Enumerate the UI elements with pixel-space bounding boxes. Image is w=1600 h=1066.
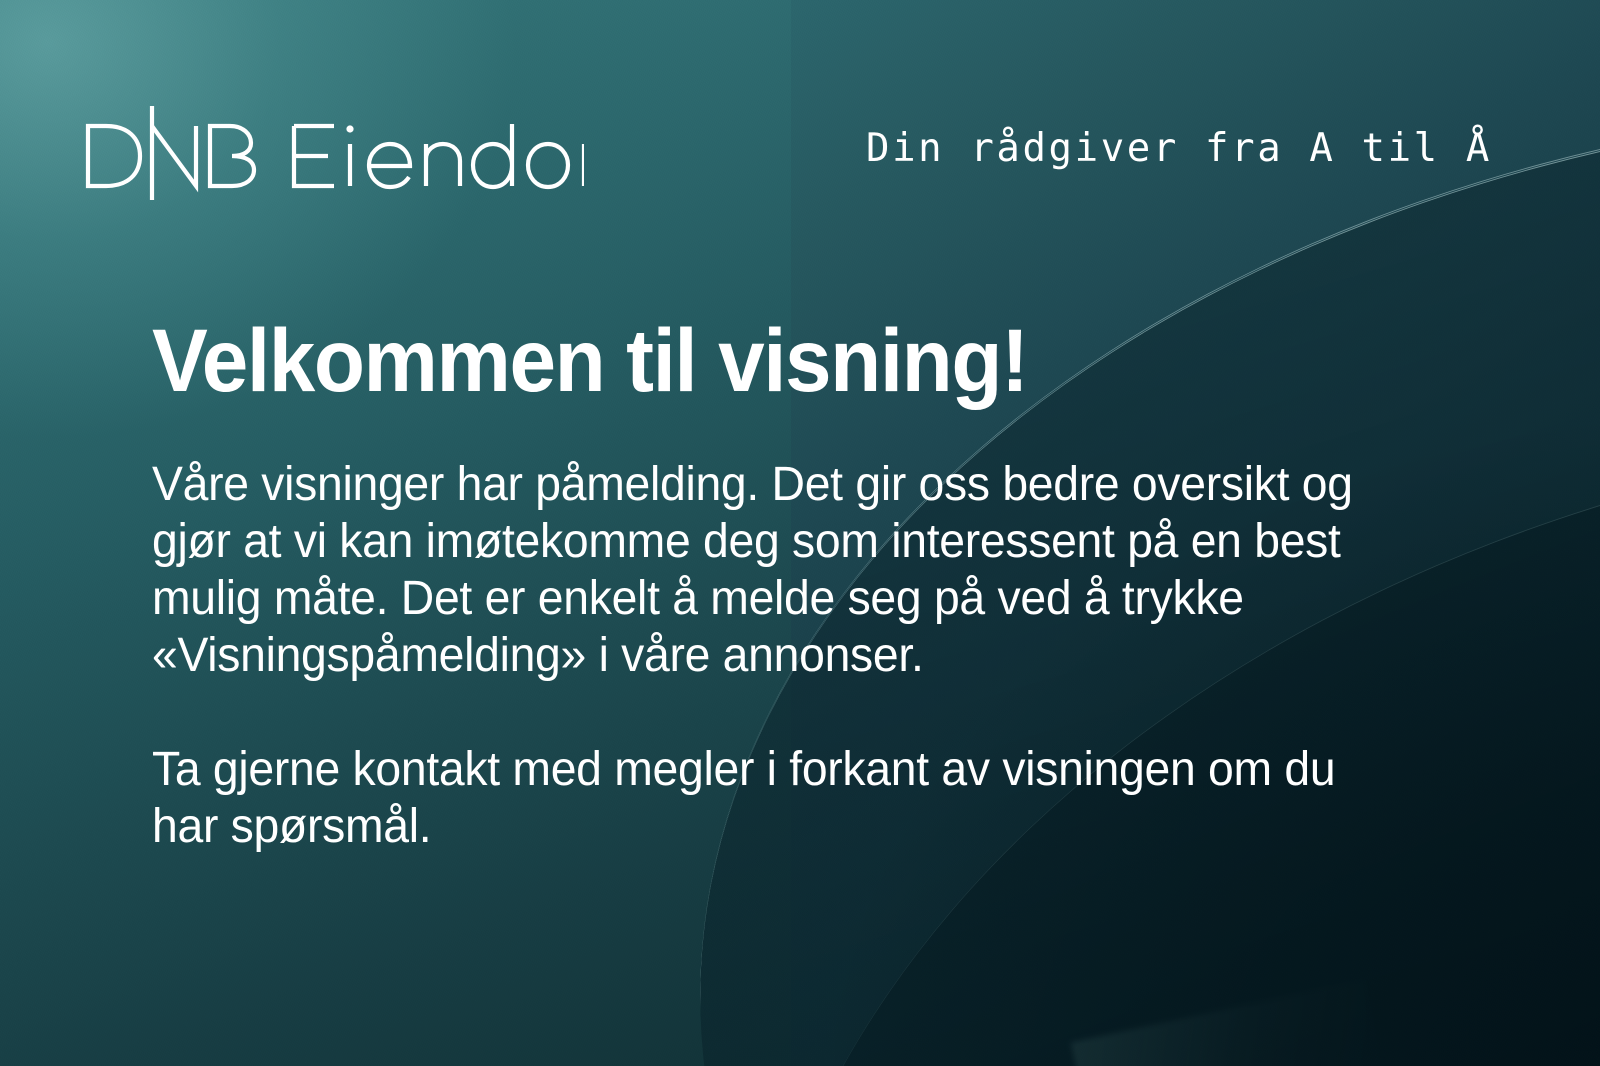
body-paragraph-1: Våre visninger har påmelding. Det gir os… xyxy=(152,456,1397,684)
body-paragraph-2: Ta gjerne kontakt med megler i forkant a… xyxy=(152,741,1397,855)
page-title: Velkommen til visning! xyxy=(152,316,1028,405)
dnb-eiendom-logo-icon xyxy=(84,104,584,204)
dnb-eiendom-logo xyxy=(84,104,584,204)
body-copy: Våre visninger har påmelding. Det gir os… xyxy=(152,456,1442,855)
slide-content: Din rådgiver fra A til Å Velkommen til v… xyxy=(0,0,1600,1066)
paragraph-spacer xyxy=(152,684,1442,741)
slide-canvas: Din rådgiver fra A til Å Velkommen til v… xyxy=(0,0,1600,1066)
logo-i-dot xyxy=(346,125,353,132)
brand-tagline: Din rådgiver fra A til Å xyxy=(866,126,1492,171)
